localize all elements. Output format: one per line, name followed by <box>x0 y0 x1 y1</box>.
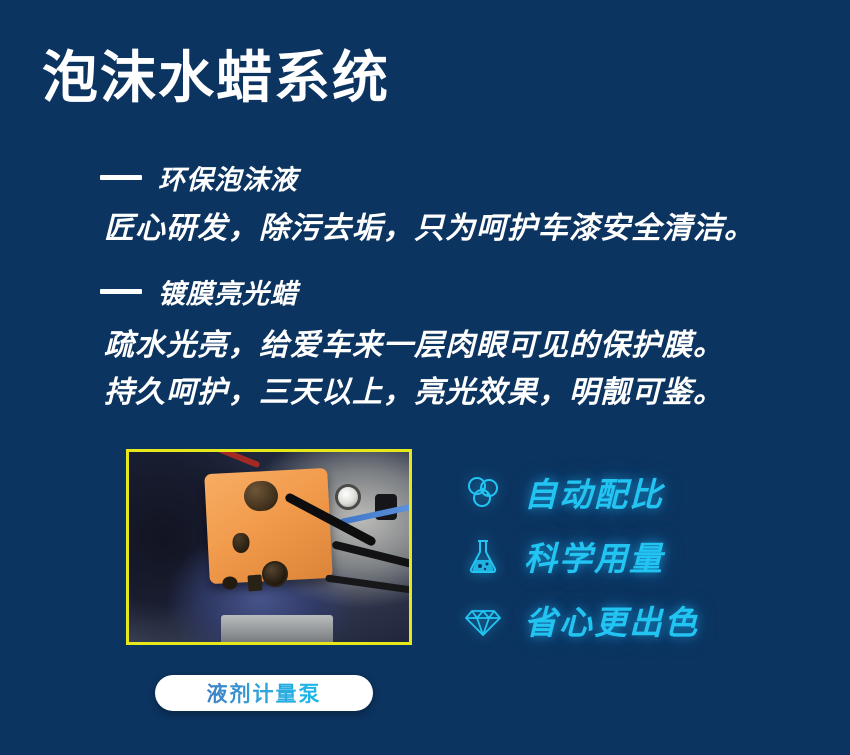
photo-caption-label: 液剂计量泵 <box>207 678 322 708</box>
promo-page: 泡沫水蜡系统 环保泡沫液 匠心研发，除污去垢，只为呵护车漆安全清洁。 镀膜亮光蜡… <box>0 0 850 755</box>
photo-mounting-plate <box>221 615 333 645</box>
feature-label-auto-ratio: 自动配比 <box>524 468 664 516</box>
product-photo-image <box>129 452 409 642</box>
feature-label-worry-free: 省心更出色 <box>524 596 699 644</box>
section-heading-1: 环保泡沫液 <box>100 158 298 197</box>
page-title: 泡沫水蜡系统 <box>42 46 390 110</box>
diamond-icon <box>462 599 504 641</box>
photo-dial-knob <box>243 480 279 512</box>
dash-marker-icon <box>100 175 142 180</box>
photo-lever-knob <box>233 533 250 553</box>
feature-item-auto-ratio: 自动配比 <box>462 468 699 516</box>
section-heading-2-label: 镀膜亮光蜡 <box>158 272 298 311</box>
product-photo <box>126 449 412 645</box>
photo-small-port <box>222 577 237 590</box>
section-heading-2: 镀膜亮光蜡 <box>100 272 298 311</box>
photo-pressure-gauge <box>335 484 361 510</box>
flask-icon <box>462 535 504 577</box>
section-2-line-1: 疏水光亮，给爱车来一层肉眼可见的保护膜。 <box>104 320 724 364</box>
dash-marker-icon <box>100 289 142 294</box>
three-circles-icon <box>462 471 504 513</box>
photo-black-knob <box>262 561 288 587</box>
feature-item-scientific-dosage: 科学用量 <box>462 532 699 580</box>
feature-label-scientific-dosage: 科学用量 <box>524 532 664 580</box>
section-heading-1-label: 环保泡沫液 <box>158 158 298 197</box>
section-1-line-1: 匠心研发，除污去垢，只为呵护车漆安全清洁。 <box>104 203 755 247</box>
photo-caption-badge: 液剂计量泵 <box>155 675 373 711</box>
section-2-line-2: 持久呵护，三天以上，亮光效果，明靓可鉴。 <box>104 367 724 411</box>
photo-red-wire <box>216 449 260 468</box>
photo-switch <box>247 575 262 592</box>
feature-item-worry-free: 省心更出色 <box>462 596 699 644</box>
feature-list: 自动配比 科学用量 <box>462 468 699 644</box>
photo-black-hose-3 <box>325 575 412 595</box>
